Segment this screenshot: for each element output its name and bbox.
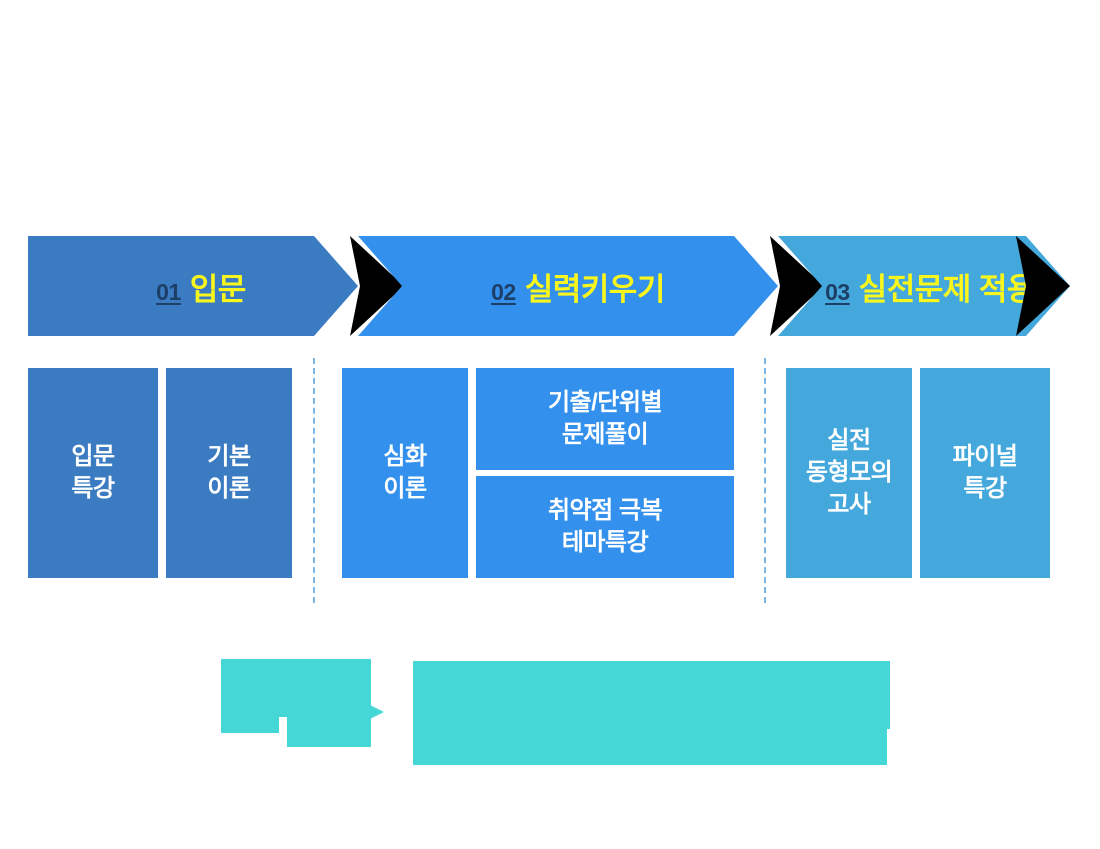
redaction-arrow-icon (360, 700, 384, 724)
diagram-canvas: 01 입문 02 실력키우기 03 실전문제 적용 입문 특강 (0, 0, 1100, 849)
redaction-block (413, 661, 890, 729)
redaction-block (413, 723, 887, 765)
redaction-overlay (0, 0, 1100, 849)
redaction-block (287, 659, 371, 747)
redaction-block (221, 659, 279, 733)
